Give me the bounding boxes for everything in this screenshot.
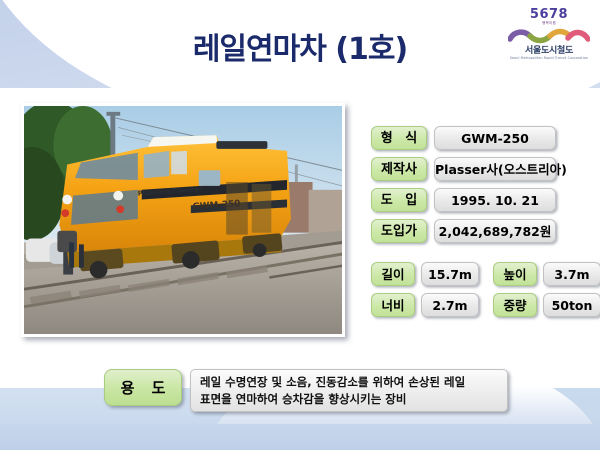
usage-section: 용 도 레일 수명연장 및 소음, 진동감소를 위하여 손상된 레일 표면을 연… <box>104 369 508 412</box>
logo-wave-icon <box>508 27 590 45</box>
spec-row: 형 식 GWM-250 <box>371 126 556 150</box>
dimension-label-height: 높이 <box>493 262 537 286</box>
logo-number: 5678 <box>508 8 590 21</box>
usage-label: 용 도 <box>104 369 182 406</box>
dimension-label-weight: 중량 <box>493 293 537 317</box>
logo-english-name: Seoul Metropolitan Rapid Transit Corpora… <box>508 57 590 61</box>
dimension-label-width: 너비 <box>371 293 415 317</box>
dimension-label-length: 길이 <box>371 262 415 286</box>
vehicle-photo: Plasser&Theurer GWM-250 <box>21 103 345 337</box>
spec-value-type: GWM-250 <box>434 126 556 150</box>
spec-label-price: 도입가 <box>371 219 427 243</box>
background-bottom-band <box>0 424 600 450</box>
dimension-value-width: 2.7m <box>421 293 479 317</box>
dimension-row: 너비 2.7m 중량 50ton <box>371 293 600 317</box>
spec-value-introduced: 1995. 10. 21 <box>434 188 556 212</box>
spec-row: 도 입 1995. 10. 21 <box>371 188 556 212</box>
spec-row: 도입가 2,042,689,782원 <box>371 219 556 243</box>
spec-row: 제작사 Plasser사(오스트리아) <box>371 157 556 181</box>
dimension-table: 길이 15.7m 높이 3.7m 너비 2.7m 중량 50ton <box>371 262 600 324</box>
specification-table: 형 식 GWM-250 제작사 Plasser사(오스트리아) 도 입 1995… <box>371 126 556 250</box>
dimension-value-height: 3.7m <box>543 262 600 286</box>
usage-description: 레일 수명연장 및 소음, 진동감소를 위하여 손상된 레일 표면을 연마하여 … <box>190 369 508 412</box>
logo-korean-name: 서울도시철도 <box>508 47 590 56</box>
dimension-row: 길이 15.7m 높이 3.7m <box>371 262 600 286</box>
spec-value-manufacturer: Plasser사(오스트리아) <box>434 157 556 181</box>
logo-subtitle: 행복이음 <box>508 22 590 26</box>
spec-label-introduced: 도 입 <box>371 188 427 212</box>
vehicle-photo-image: Plasser&Theurer GWM-250 <box>24 106 342 334</box>
spec-value-price: 2,042,689,782원 <box>434 219 556 243</box>
dimension-value-weight: 50ton <box>543 293 600 317</box>
spec-label-type: 형 식 <box>371 126 427 150</box>
spec-label-manufacturer: 제작사 <box>371 157 427 181</box>
dimension-value-length: 15.7m <box>421 262 479 286</box>
seoul-metro-logo: 5678 행복이음 서울도시철도 Seoul Metropolitan Rapi… <box>508 8 590 62</box>
